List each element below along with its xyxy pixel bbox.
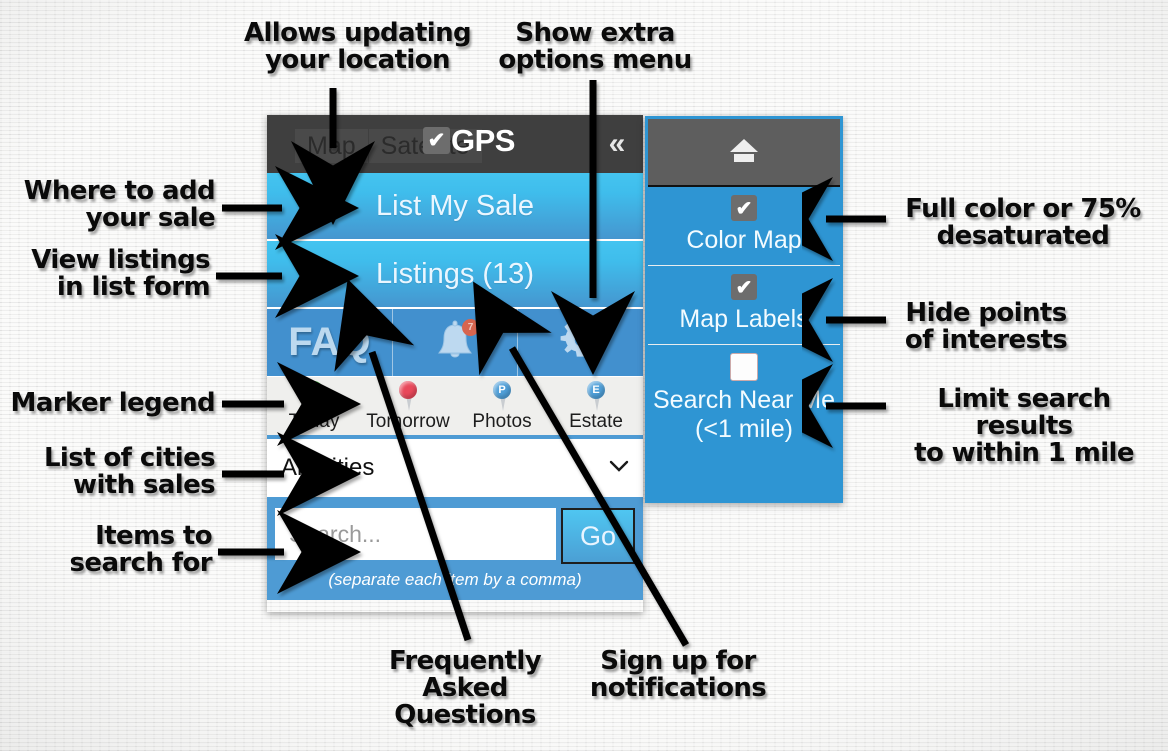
annotation-line: in list form <box>10 274 210 301</box>
chevron-down-icon <box>609 457 629 479</box>
map-pin-icon <box>396 381 420 411</box>
annotation-line: your sale <box>10 205 215 232</box>
legend-label: Today <box>289 411 340 433</box>
map-pin-icon <box>302 381 326 411</box>
annotation-line: notifications <box>588 675 768 702</box>
city-select-value: All Cities <box>281 454 374 482</box>
legend-label: Tomorrow <box>366 411 449 433</box>
legend-item: Today <box>267 381 361 435</box>
app-panel: Map Satellite ✔ GPS « List My Sale Listi… <box>267 115 643 612</box>
annotation-line: Items to <box>10 523 212 550</box>
annotation-line: to within 1 mile <box>888 440 1160 467</box>
annotation-line: your location <box>240 47 475 74</box>
icon-button-row: FAQ 7 <box>267 309 643 377</box>
search-row: Search... Go <box>275 508 635 564</box>
notification-badge: 7 <box>462 319 479 336</box>
map-pin-icon: E <box>584 381 608 411</box>
list-my-sale-button[interactable]: List My Sale <box>267 173 643 241</box>
bell-icon: 7 <box>433 320 477 366</box>
legend-pin-glyph: E <box>587 381 605 399</box>
annotation-hide-points: Hide points of interests <box>888 300 1084 354</box>
search-near-me-label: Search Near Me (<1 mile) <box>653 386 835 444</box>
marker-legend: Today Tomorrow P Photos E Estate <box>267 377 643 435</box>
annotation-line: options menu <box>495 47 695 74</box>
map-pin-icon: P <box>490 381 514 411</box>
annotation-line: Questions <box>375 702 555 729</box>
annotation-line: desaturated <box>888 223 1158 250</box>
legend-item: E Estate <box>549 381 643 435</box>
annotation-line: List of cities <box>10 445 215 472</box>
legend-pin-glyph <box>305 381 323 399</box>
legend-item: P Photos <box>455 381 549 435</box>
annotation-line: Full color or 75% <box>888 196 1158 223</box>
search-wrapper: Search... Go <box>267 497 643 564</box>
annotation-line: View listings <box>10 247 210 274</box>
search-input[interactable]: Search... <box>275 508 556 560</box>
annotation-line: Where to add <box>10 178 215 205</box>
annotation-limit-search: Limit search results to within 1 mile <box>888 386 1160 467</box>
search-near-me-checkbox[interactable] <box>730 353 758 381</box>
annotation-line: Allows updating <box>240 20 475 47</box>
annotation-faq: Frequently Asked Questions <box>375 648 555 729</box>
search-near-me-line1: Search Near Me <box>653 386 835 414</box>
listings-button[interactable]: Listings (13) <box>267 241 643 309</box>
color-map-checkbox[interactable]: ✔ <box>731 195 757 221</box>
legend-label: Estate <box>569 411 623 433</box>
annotation-show-extra: Show extra options menu <box>495 20 695 74</box>
legend-pin-glyph <box>399 381 417 399</box>
city-select[interactable]: All Cities <box>267 439 643 497</box>
annotation-line: of interests <box>888 327 1084 354</box>
faq-label: FAQ <box>288 320 370 365</box>
annotation-line: Limit search results <box>888 386 1160 440</box>
legend-label: Photos <box>472 411 531 433</box>
map-labels-label: Map Labels <box>679 305 808 334</box>
eject-button[interactable] <box>648 119 840 187</box>
search-hint: (separate each item by a comma) <box>267 564 643 600</box>
annotation-where-to-add: Where to add your sale <box>10 178 215 232</box>
annotation-allows-updating: Allows updating your location <box>240 20 475 74</box>
map-type-bar: Map Satellite ✔ GPS « <box>267 115 643 173</box>
annotation-line: Asked <box>375 675 555 702</box>
map-labels-checkbox[interactable]: ✔ <box>731 274 757 300</box>
eject-icon <box>721 133 767 172</box>
annotation-line: Sign up for <box>588 648 768 675</box>
city-select-wrapper: All Cities <box>267 435 643 497</box>
gear-icon <box>558 317 604 368</box>
annotation-line: Marker legend <box>10 390 215 417</box>
gps-label: GPS <box>451 125 515 156</box>
legend-pin-glyph: P <box>493 381 511 399</box>
annotation-list-of-cities: List of cities with sales <box>10 445 215 499</box>
annotation-line: search for <box>10 550 212 577</box>
legend-item: Tomorrow <box>361 381 455 435</box>
option-color-map[interactable]: ✔ Color Map <box>648 187 840 266</box>
annotation-line: Hide points <box>888 300 1084 327</box>
annotation-line: with sales <box>10 472 215 499</box>
faq-button[interactable]: FAQ <box>267 309 393 376</box>
annotation-marker-legend: Marker legend <box>10 390 215 417</box>
gps-toggle[interactable]: ✔ GPS <box>423 125 515 156</box>
search-near-me-line2: (<1 mile) <box>695 415 793 443</box>
settings-button[interactable] <box>518 309 643 376</box>
annotation-line: Frequently <box>375 648 555 675</box>
annotation-line: Show extra <box>495 20 695 47</box>
annotation-sign-up: Sign up for notifications <box>588 648 768 702</box>
gps-checkbox[interactable]: ✔ <box>423 127 450 154</box>
annotation-full-color: Full color or 75% desaturated <box>888 196 1158 250</box>
annotation-items-to-search: Items to search for <box>10 523 212 577</box>
option-search-near-me[interactable]: Search Near Me (<1 mile) <box>648 345 840 454</box>
collapse-panel-button[interactable]: « <box>591 115 643 173</box>
notifications-button[interactable]: 7 <box>393 309 519 376</box>
go-button[interactable]: Go <box>561 508 635 564</box>
option-map-labels[interactable]: ✔ Map Labels <box>648 266 840 345</box>
color-map-label: Color Map <box>686 226 801 255</box>
map-type-map-button[interactable]: Map <box>295 129 369 163</box>
options-panel: ✔ Color Map ✔ Map Labels Search Near Me … <box>645 116 843 503</box>
annotation-view-listings: View listings in list form <box>10 247 210 301</box>
